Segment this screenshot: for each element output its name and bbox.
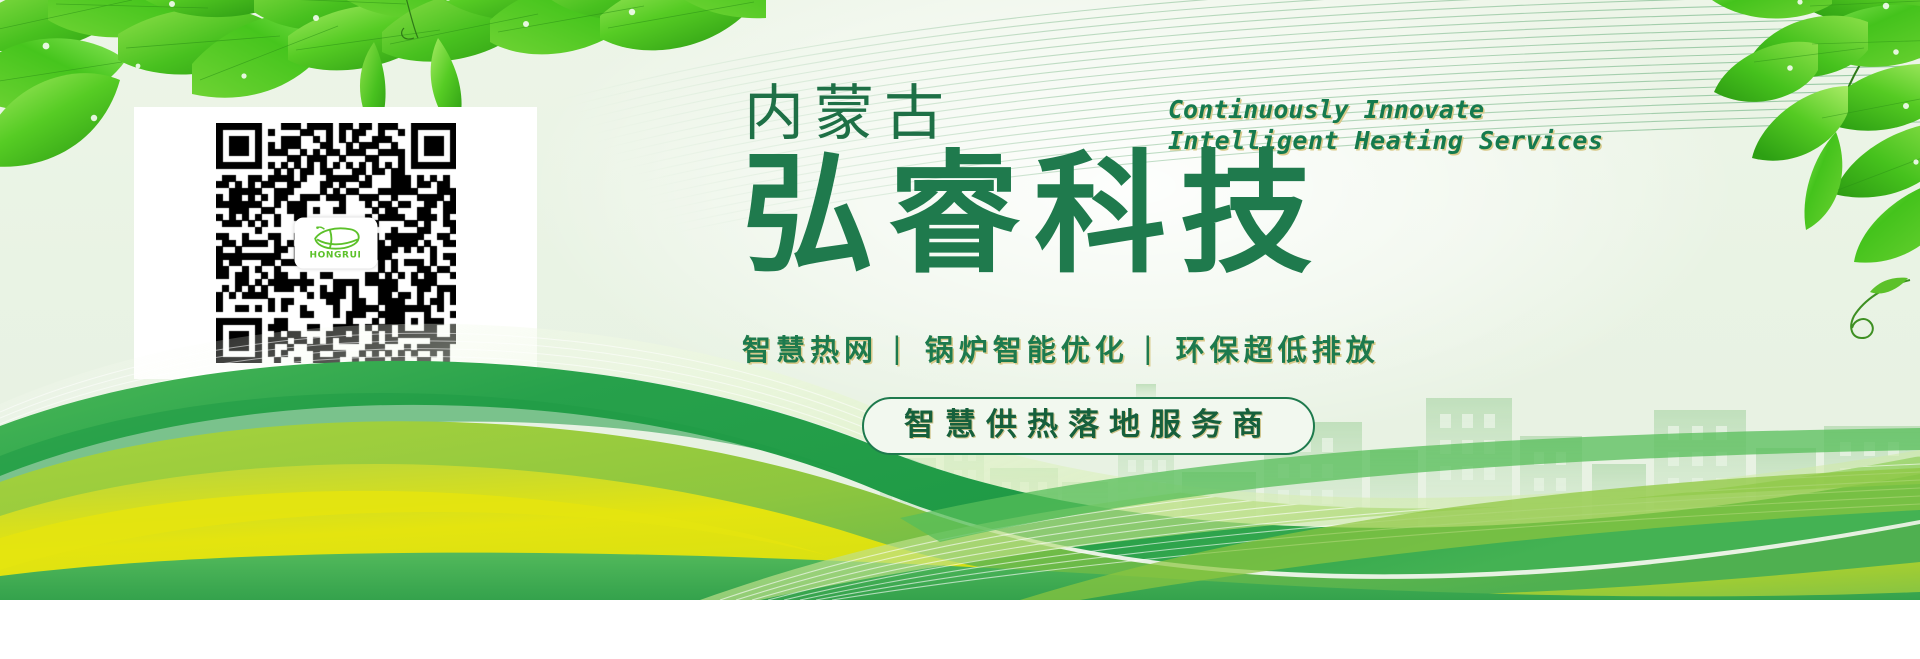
copy-block: 内蒙古 Continuously Innovate Intelligent He… (0, 0, 1920, 600)
service-separator-2: | (1143, 331, 1158, 365)
service-item-2: 锅炉智能优化 (925, 327, 1129, 369)
slogan-badge: 智慧供热落地服务商 (862, 397, 1315, 455)
company-name: 弘睿科技 (742, 146, 1326, 286)
region-name: 内蒙古 (744, 84, 954, 144)
service-list: 智慧热网 | 锅炉智能优化 | 环保超低排放 (742, 327, 1380, 369)
english-tagline-line1: Continuously Innovate (1168, 94, 1603, 125)
service-item-1: 智慧热网 (742, 327, 878, 369)
service-separator-1: | (892, 331, 907, 365)
promo-banner: HONGRUI (0, 0, 1920, 600)
page-body-whitespace (0, 600, 1920, 659)
service-item-3: 环保超低排放 (1176, 327, 1380, 369)
